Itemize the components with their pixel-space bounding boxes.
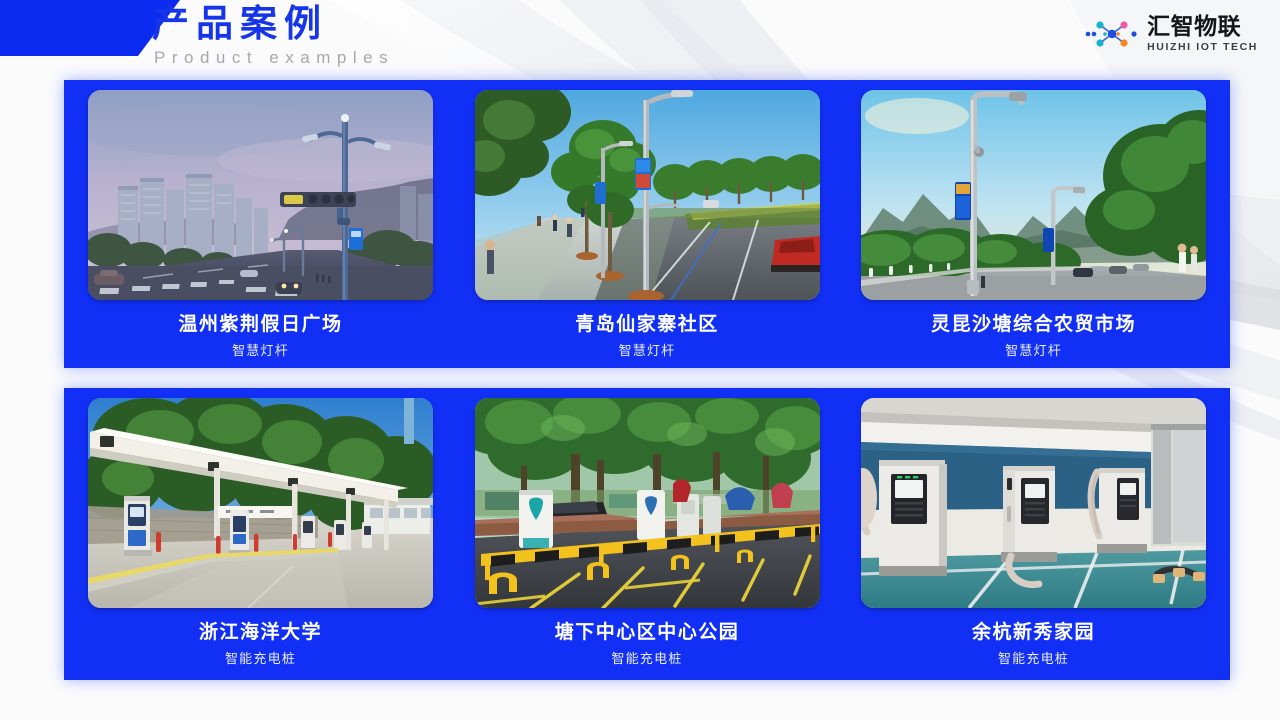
logo-name-cn: 汇智物联 bbox=[1147, 14, 1258, 39]
logo-text-block: 汇智物联 HUIZHI IOT TECH bbox=[1147, 14, 1258, 54]
photo-lingkun-shatang-market bbox=[861, 90, 1206, 300]
case-subtitle: 智慧灯杆 bbox=[619, 343, 676, 359]
case-title: 灵昆沙塘综合农贸市场 bbox=[931, 313, 1136, 337]
photo-yuhang-xinxiu-homeland bbox=[861, 398, 1206, 608]
company-logo: 汇智物联 HUIZHI IOT TECH bbox=[1084, 14, 1258, 54]
case-card[interactable]: 灵昆沙塘综合农贸市场 智慧灯杆 bbox=[861, 90, 1206, 368]
case-card[interactable]: 青岛仙家寨社区 智慧灯杆 bbox=[475, 90, 820, 368]
case-subtitle: 智能充电桩 bbox=[998, 651, 1069, 667]
case-panel-row-2: 浙江海洋大学 智能充电桩 bbox=[64, 388, 1230, 680]
photo-tangxia-central-park bbox=[475, 398, 820, 608]
photo-wenzhou-zijing-plaza bbox=[88, 90, 433, 300]
case-card[interactable]: 塘下中心区中心公园 智能充电桩 bbox=[475, 398, 820, 680]
dusk-street-scene-illustration bbox=[88, 90, 433, 300]
case-title: 浙江海洋大学 bbox=[199, 621, 322, 645]
case-card[interactable]: 浙江海洋大学 智能充电桩 bbox=[88, 398, 433, 680]
case-subtitle: 智慧灯杆 bbox=[1005, 343, 1062, 359]
page-title: 产品案例 bbox=[152, 2, 394, 46]
photo-qingdao-xianjiazhai-community bbox=[475, 90, 820, 300]
case-title: 塘下中心区中心公园 bbox=[555, 621, 740, 645]
indoor-garage-charging-illustration bbox=[861, 398, 1206, 608]
page-title-block: 产品案例 Product examples bbox=[152, 2, 394, 69]
molecule-network-icon bbox=[1084, 14, 1140, 54]
case-title: 青岛仙家寨社区 bbox=[575, 313, 719, 337]
case-card-list-row-2: 浙江海洋大学 智能充电桩 bbox=[64, 388, 1230, 680]
green-street-render-illustration bbox=[475, 90, 820, 300]
sunny-road-mountain-illustration bbox=[861, 90, 1206, 300]
page-subtitle: Product examples bbox=[152, 47, 394, 69]
slide-root: 产品案例 Product examples bbox=[0, 0, 1280, 720]
case-title: 余杭新秀家园 bbox=[972, 621, 1095, 645]
case-card-list-row-1: 温州紫荆假日广场 智慧灯杆 bbox=[64, 80, 1230, 368]
parking-lot-chargers-illustration bbox=[475, 398, 820, 608]
case-subtitle: 智能充电桩 bbox=[611, 651, 682, 667]
case-subtitle: 智能充电桩 bbox=[225, 651, 296, 667]
case-card[interactable]: 余杭新秀家园 智能充电桩 bbox=[861, 398, 1206, 680]
case-subtitle: 智慧灯杆 bbox=[232, 343, 289, 359]
case-panel-row-1: 温州紫荆假日广场 智慧灯杆 bbox=[64, 80, 1230, 368]
slide-header: 产品案例 Product examples bbox=[0, 0, 1280, 72]
photo-zhejiang-ocean-university bbox=[88, 398, 433, 608]
logo-name-en: HUIZHI IOT TECH bbox=[1147, 41, 1258, 54]
case-title: 温州紫荆假日广场 bbox=[178, 313, 342, 337]
charging-station-canopy-illustration bbox=[88, 398, 433, 608]
case-card[interactable]: 温州紫荆假日广场 智慧灯杆 bbox=[88, 90, 433, 368]
